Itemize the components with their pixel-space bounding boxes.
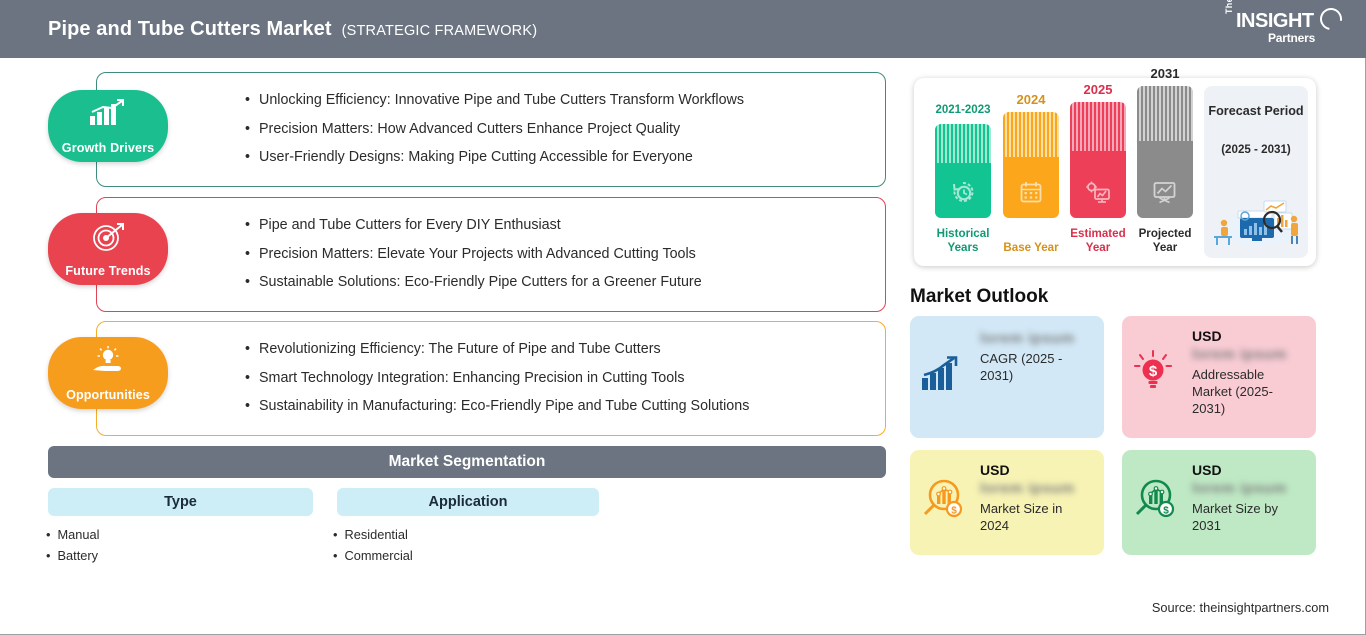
timeline-bar-projected: 2031: [1134, 66, 1196, 254]
infographic-page: Pipe and Tube Cutters Market (STRATEGIC …: [0, 0, 1366, 635]
forecast-period-box: Forecast Period (2025 - 2031): [1204, 86, 1308, 258]
list-item: Residential: [333, 524, 413, 545]
page-header: Pipe and Tube Cutters Market (STRATEGIC …: [0, 0, 1366, 58]
timeline-bar-solid: [1070, 151, 1126, 218]
badge-label: Opportunities: [66, 388, 150, 402]
magnifier-chart-dollar-icon: $: [920, 478, 964, 527]
badge-label: Future Trends: [65, 264, 150, 278]
outlook-card-usd: USD: [980, 462, 1092, 478]
timeline-caption: Historical Years: [932, 227, 994, 254]
list-item: Smart Technology Integration: Enhancing …: [245, 371, 749, 387]
list-item: Revolutionizing Efficiency: The Future o…: [245, 342, 749, 358]
timeline-bar-base: 2024: [1000, 92, 1062, 254]
outlook-card-label: Addressable Market (2025-2031): [1192, 366, 1304, 417]
calendar-icon: [1019, 180, 1043, 209]
list-item: Precision Matters: Elevate Your Projects…: [245, 247, 702, 263]
outlook-card-usd: USD: [1192, 328, 1304, 344]
outlook-card-value: lorem ipsum: [980, 330, 1092, 349]
timeline-card: 2021-2023 Histori: [914, 78, 1316, 266]
future-trends-bullet-list: Pipe and Tube Cutters for Every DIY Enth…: [245, 198, 702, 311]
timeline-bar-solid: [1137, 141, 1193, 218]
timeline-bar-solid: [935, 163, 991, 218]
timeline-caption: Estimated Year: [1067, 227, 1129, 254]
panel-future-trends: Pipe and Tube Cutters for Every DIY Enth…: [96, 197, 886, 312]
timeline-year-label: 2024: [1000, 92, 1062, 107]
timeline-caption: Base Year: [1000, 241, 1062, 254]
outlook-card-market-size-2024: $ USD lorem ipsum Market Size in 2024: [910, 450, 1104, 555]
segmentation-type-list: Manual Battery: [46, 524, 99, 566]
outlook-card-label: Market Size by 2031: [1192, 500, 1304, 534]
panel-opportunities: Revolutionizing Efficiency: The Future o…: [96, 321, 886, 436]
segmentation-column-type: Type: [48, 488, 313, 516]
segmentation-application-list: Residential Commercial: [333, 524, 413, 566]
timeline-bar-estimated: 2025: [1067, 82, 1129, 254]
timeline-caption: Projected Year: [1134, 227, 1196, 254]
insight-partners-logo: The INSIGHT Partners: [1224, 8, 1344, 52]
forecast-period-title: Forecast Period: [1204, 104, 1308, 120]
header-title-group: Pipe and Tube Cutters Market (STRATEGIC …: [48, 18, 537, 41]
list-item: Precision Matters: How Advanced Cutters …: [245, 122, 744, 138]
outlook-card-market-size-2031: $ USD lorem ipsum Market Size by 2031: [1122, 450, 1316, 555]
logo-insight-text: INSIGHT: [1236, 10, 1314, 33]
forecast-period-range: (2025 - 2031): [1204, 143, 1308, 156]
bar-chart-arrow-icon: [920, 356, 962, 397]
clock-history-icon: [951, 180, 975, 209]
timeline-bar-stripe: [935, 124, 991, 163]
outlook-card-body: USD lorem ipsum Market Size by 2031: [1192, 462, 1304, 534]
svg-text:$: $: [1163, 506, 1169, 517]
bar-chart-growth-icon: [88, 99, 128, 132]
logo-arc-icon: [1316, 4, 1347, 35]
svg-text:$: $: [1149, 363, 1158, 380]
opportunities-bullet-list: Revolutionizing Efficiency: The Future o…: [245, 322, 749, 435]
source-attribution: Source: theinsightpartners.com: [1152, 600, 1329, 615]
badge-opportunities[interactable]: Opportunities: [48, 337, 168, 409]
list-item: Commercial: [333, 545, 413, 566]
list-item: Sustainable Solutions: Eco-Friendly Pipe…: [245, 275, 702, 291]
outlook-card-addressable-market: $ USD lorem ipsum Addressable Market (20…: [1122, 316, 1316, 438]
lightbulb-hand-icon: [89, 346, 127, 381]
market-segmentation-header: Market Segmentation: [48, 446, 886, 478]
outlook-card-label: CAGR (2025 - 2031): [980, 350, 1092, 384]
presentation-chart-icon: [1152, 180, 1178, 209]
market-outlook-title: Market Outlook: [910, 286, 1048, 308]
page-title: Pipe and Tube Cutters Market: [48, 18, 332, 41]
outlook-card-value: lorem ipsum: [980, 480, 1092, 499]
timeline-bar-stripe: [1070, 102, 1126, 151]
badge-growth-drivers[interactable]: Growth Drivers: [48, 90, 168, 162]
logo-the-text: The: [1224, 0, 1234, 14]
timeline-year-label: 2025: [1067, 82, 1129, 97]
growth-drivers-bullet-list: Unlocking Efficiency: Innovative Pipe an…: [245, 73, 744, 186]
list-item: Unlocking Efficiency: Innovative Pipe an…: [245, 93, 744, 109]
list-item: Manual: [46, 524, 99, 545]
analytics-team-illustration: [1208, 189, 1304, 252]
magnifier-chart-dollar-icon: $: [1132, 478, 1176, 527]
outlook-card-body: USD lorem ipsum Market Size in 2024: [980, 462, 1092, 534]
right-column: 2021-2023 Histori: [900, 58, 1366, 635]
left-column: Unlocking Efficiency: Innovative Pipe an…: [0, 58, 900, 635]
panel-growth-drivers: Unlocking Efficiency: Innovative Pipe an…: [96, 72, 886, 187]
outlook-card-usd: USD: [1192, 462, 1304, 478]
gear-chart-icon: [1085, 180, 1111, 209]
outlook-card-label: Market Size in 2024: [980, 500, 1092, 534]
segmentation-column-application: Application: [337, 488, 599, 516]
badge-label: Growth Drivers: [62, 141, 154, 155]
outlook-card-cagr: lorem ipsum CAGR (2025 - 2031): [910, 316, 1104, 438]
target-dartboard-icon: [91, 222, 125, 257]
list-item: User-Friendly Designs: Making Pipe Cutti…: [245, 150, 744, 166]
list-item: Battery: [46, 545, 99, 566]
timeline-year-label: 2021-2023: [932, 104, 994, 116]
list-item: Pipe and Tube Cutters for Every DIY Enth…: [245, 218, 702, 234]
outlook-card-value: lorem ipsum: [1192, 480, 1304, 499]
timeline-bar-historical: 2021-2023 Histori: [932, 104, 994, 254]
timeline-year-label: 2031: [1134, 66, 1196, 81]
list-item: Sustainability in Manufacturing: Eco-Fri…: [245, 399, 749, 415]
timeline-bar-stripe: [1003, 112, 1059, 157]
lightbulb-dollar-icon: $: [1132, 350, 1174, 399]
outlook-card-value: lorem ipsum: [1192, 346, 1304, 365]
outlook-card-body: lorem ipsum CAGR (2025 - 2031): [980, 330, 1092, 384]
badge-future-trends[interactable]: Future Trends: [48, 213, 168, 285]
svg-text:$: $: [951, 506, 957, 517]
outlook-card-body: USD lorem ipsum Addressable Market (2025…: [1192, 328, 1304, 417]
timeline-bar-stripe: [1137, 86, 1193, 141]
page-subtitle: (STRATEGIC FRAMEWORK): [342, 23, 538, 39]
timeline-bar-solid: [1003, 157, 1059, 218]
logo-partners-text: Partners: [1268, 31, 1315, 45]
